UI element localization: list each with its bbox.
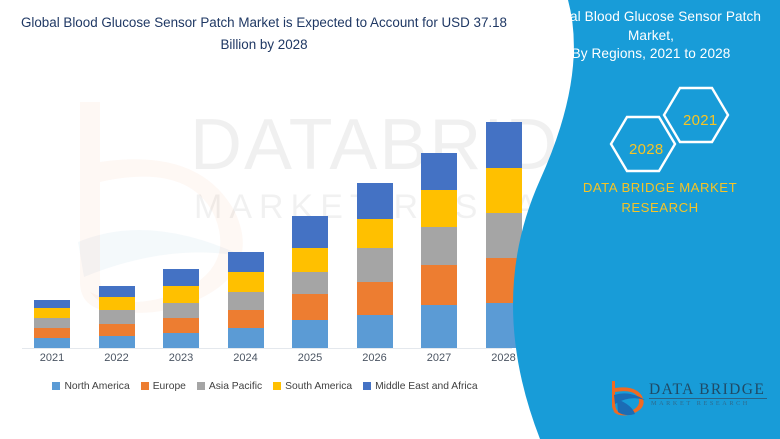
bar-segment-north-america[interactable]	[99, 336, 135, 348]
x-tick-2023: 2023	[151, 352, 211, 364]
legend-swatch-icon	[363, 382, 371, 390]
bar-segment-south-america[interactable]	[292, 248, 328, 272]
bar-segment-south-america[interactable]	[163, 286, 199, 303]
x-tick-2022: 2022	[87, 352, 147, 364]
chart-plot-area: 20212022202320242025202620272028	[0, 0, 530, 439]
legend-item-north-america[interactable]: North America	[52, 381, 129, 392]
bar-segment-asia-pacific[interactable]	[228, 292, 264, 310]
chart-legend: North AmericaEuropeAsia PacificSouth Ame…	[0, 377, 530, 395]
bar-segment-asia-pacific[interactable]	[163, 303, 199, 318]
logo-divider	[649, 398, 767, 399]
bar-segment-north-america[interactable]	[228, 328, 264, 348]
logo-b-icon	[605, 379, 649, 419]
bar-2027[interactable]	[421, 153, 457, 348]
panel-shape	[480, 0, 780, 439]
bar-segment-middle-east-and-africa[interactable]	[357, 183, 393, 220]
bar-segment-north-america[interactable]	[292, 320, 328, 348]
legend-item-south-america[interactable]: South America	[273, 381, 352, 392]
bar-segment-middle-east-and-africa[interactable]	[228, 252, 264, 272]
bar-segment-europe[interactable]	[34, 328, 70, 338]
bar-segment-south-america[interactable]	[357, 219, 393, 248]
bar-segment-south-america[interactable]	[34, 308, 70, 318]
bar-segment-south-america[interactable]	[421, 190, 457, 227]
panel-title: Global Blood Glucose Sensor Patch Market…	[522, 8, 780, 64]
x-axis-line	[22, 348, 512, 349]
legend-swatch-icon	[273, 382, 281, 390]
legend-swatch-icon	[52, 382, 60, 390]
bar-segment-middle-east-and-africa[interactable]	[99, 286, 135, 297]
hexagon-2028-label: 2028	[629, 141, 664, 158]
legend-label: North America	[64, 381, 129, 392]
bar-segment-middle-east-and-africa[interactable]	[163, 269, 199, 286]
hexagon-group: 2021 2028	[595, 84, 755, 174]
panel-brand-name: DATA BRIDGE MARKETRESEARCH	[540, 178, 780, 218]
bar-segment-asia-pacific[interactable]	[34, 318, 70, 328]
legend-item-asia-pacific[interactable]: Asia Pacific	[197, 381, 262, 392]
bar-2022[interactable]	[99, 286, 135, 348]
legend-label: Asia Pacific	[209, 381, 262, 392]
legend-item-europe[interactable]: Europe	[141, 381, 186, 392]
legend-item-middle-east-and-africa[interactable]: Middle East and Africa	[363, 381, 477, 392]
bar-2021[interactable]	[34, 300, 70, 348]
bar-segment-asia-pacific[interactable]	[292, 272, 328, 294]
bar-segment-asia-pacific[interactable]	[357, 248, 393, 282]
legend-swatch-icon	[141, 382, 149, 390]
logo-tagline: MARKET RESEARCH	[651, 400, 750, 407]
x-tick-2027: 2027	[409, 352, 469, 364]
bar-segment-europe[interactable]	[228, 310, 264, 328]
bar-segment-south-america[interactable]	[228, 272, 264, 292]
bar-segment-north-america[interactable]	[421, 305, 457, 348]
bar-segment-asia-pacific[interactable]	[421, 227, 457, 265]
bar-segment-europe[interactable]	[421, 265, 457, 305]
legend-swatch-icon	[197, 382, 205, 390]
x-tick-2021: 2021	[22, 352, 82, 364]
bar-segment-middle-east-and-africa[interactable]	[421, 153, 457, 190]
bar-segment-europe[interactable]	[292, 294, 328, 320]
bar-segment-south-america[interactable]	[99, 297, 135, 310]
legend-label: South America	[285, 381, 352, 392]
bar-2025[interactable]	[292, 216, 328, 348]
infographic-canvas: DATABRIDGE MARKET RESEARCH Global Blood …	[0, 0, 780, 439]
bar-segment-asia-pacific[interactable]	[99, 310, 135, 324]
bar-segment-north-america[interactable]	[34, 338, 70, 348]
bar-segment-north-america[interactable]	[163, 333, 199, 348]
logo-name: DATA BRIDGE	[649, 381, 765, 399]
x-tick-2024: 2024	[216, 352, 276, 364]
bar-segment-middle-east-and-africa[interactable]	[292, 216, 328, 248]
bar-2024[interactable]	[228, 252, 264, 348]
x-tick-2026: 2026	[345, 352, 405, 364]
bar-segment-europe[interactable]	[357, 282, 393, 315]
bar-2026[interactable]	[357, 183, 393, 348]
data-bridge-logo: DATA BRIDGE MARKET RESEARCH	[605, 379, 773, 419]
bar-2023[interactable]	[163, 269, 199, 348]
legend-label: Middle East and Africa	[375, 381, 477, 392]
hexagon-2021-label: 2021	[683, 112, 718, 129]
x-tick-2025: 2025	[280, 352, 340, 364]
legend-label: Europe	[153, 381, 186, 392]
hexagon-icons	[595, 84, 755, 174]
x-axis-labels: 20212022202320242025202620272028	[0, 352, 530, 370]
bar-segment-north-america[interactable]	[357, 315, 393, 348]
right-brand-panel	[480, 0, 780, 439]
bar-segment-europe[interactable]	[99, 324, 135, 336]
bar-segment-europe[interactable]	[163, 318, 199, 333]
bar-segment-middle-east-and-africa[interactable]	[34, 300, 70, 308]
